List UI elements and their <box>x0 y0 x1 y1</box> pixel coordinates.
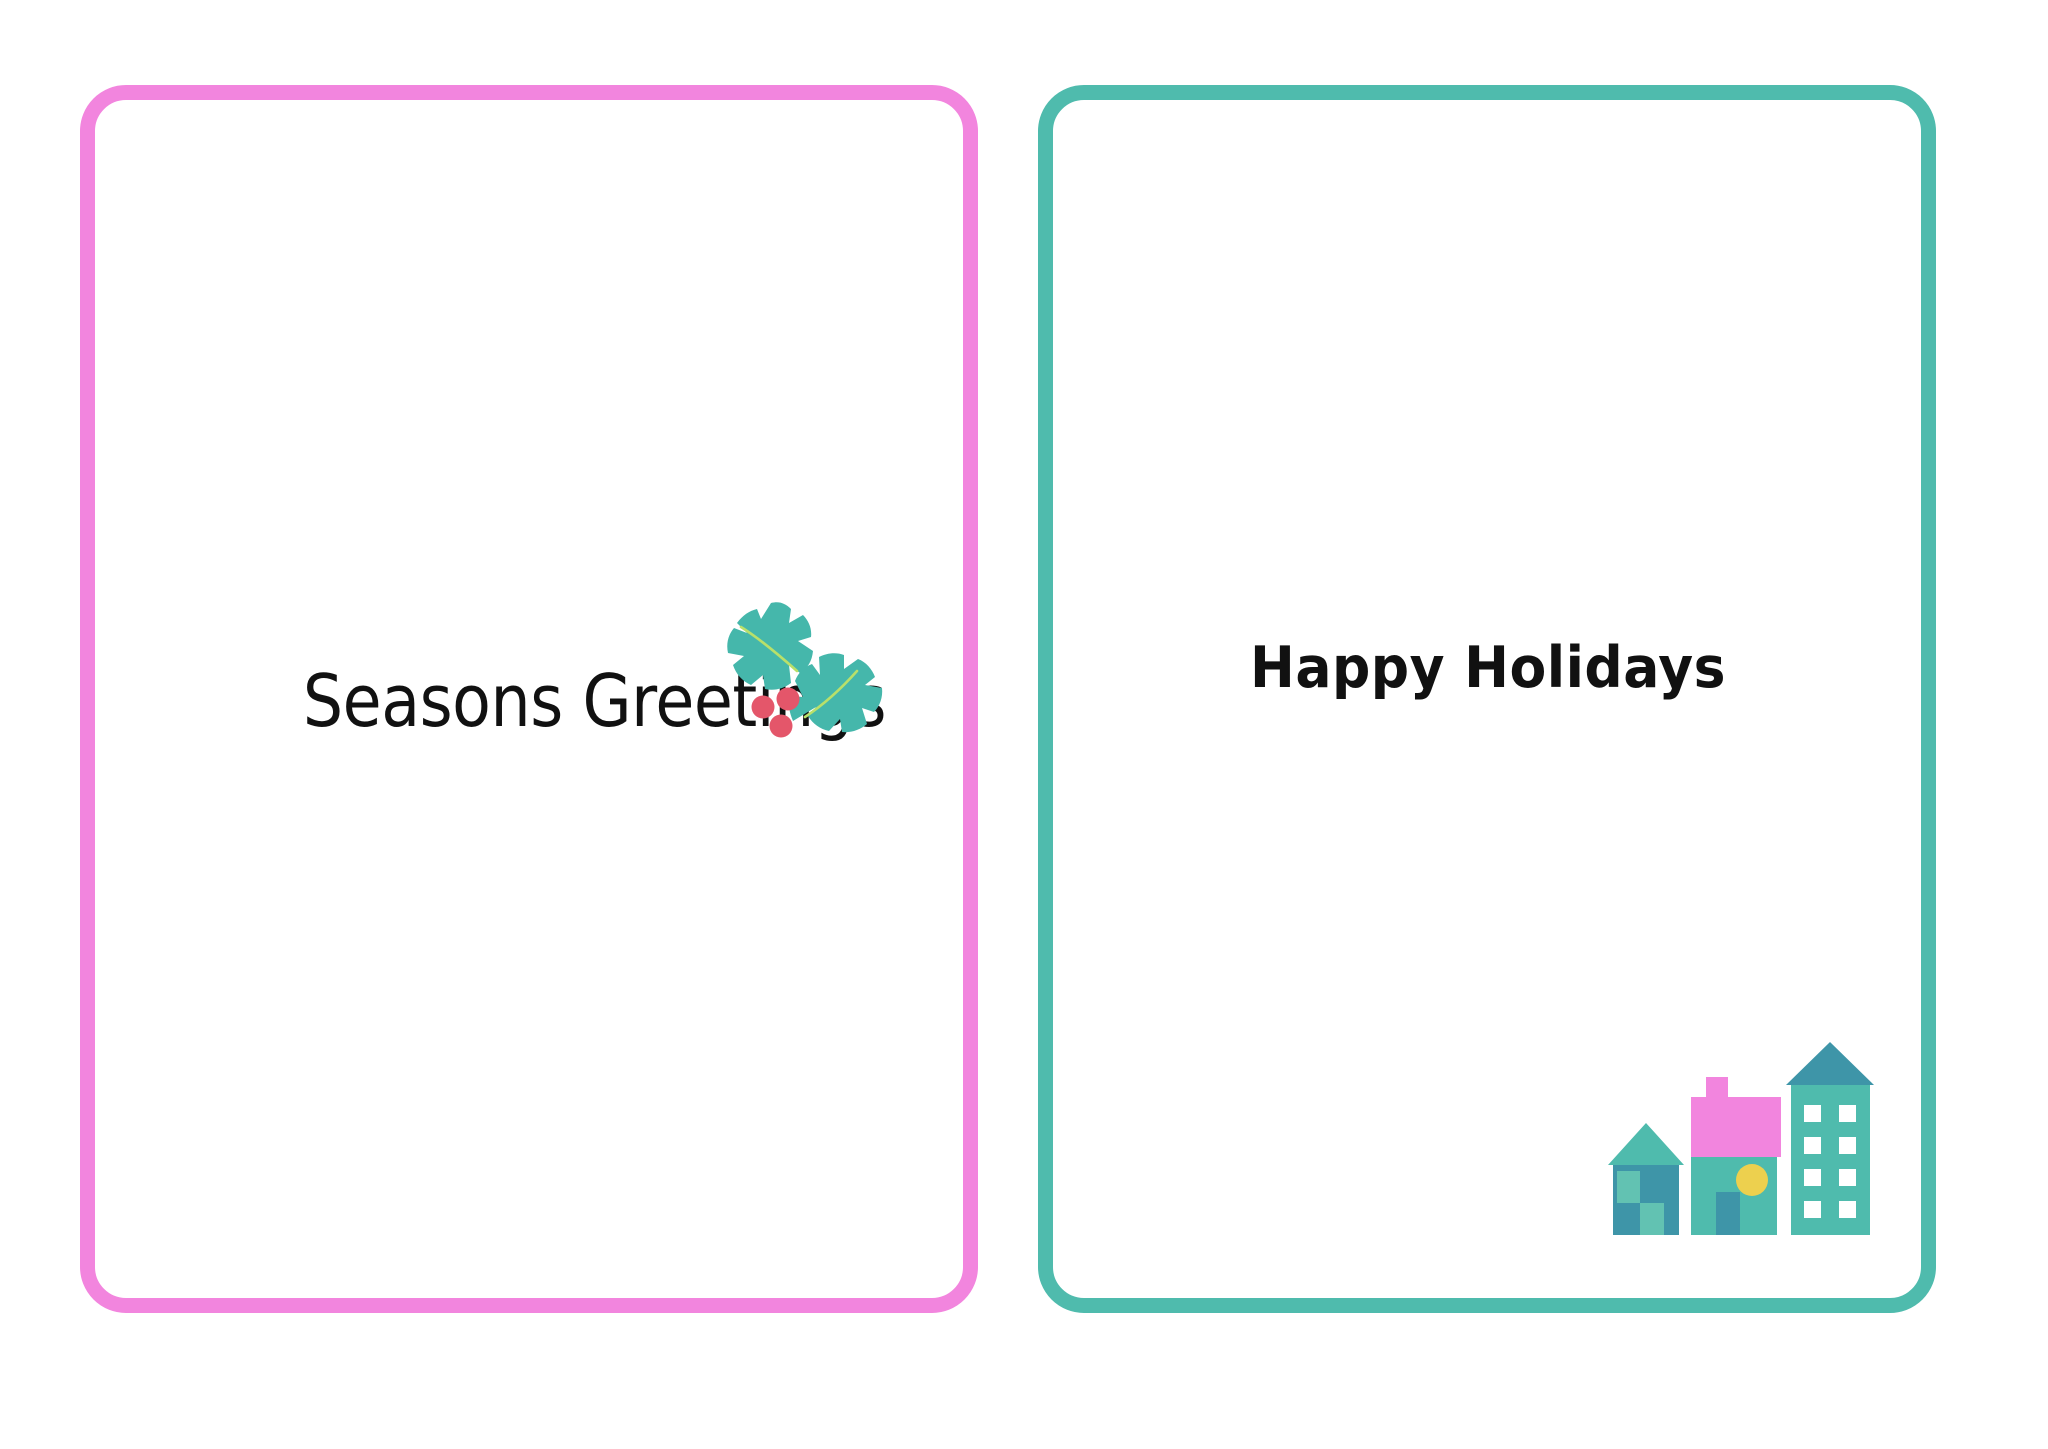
tall-building-window <box>1839 1105 1856 1122</box>
greeting-card-happy-holidays[interactable]: Happy Holidays <box>1038 85 1936 1313</box>
card-greeting-text: Seasons Greetings <box>303 665 785 737</box>
small-house-window <box>1640 1203 1664 1235</box>
middle-house <box>1691 1077 1781 1235</box>
tall-building-window <box>1839 1169 1856 1186</box>
middle-house-door <box>1716 1192 1740 1235</box>
tall-building-window <box>1804 1169 1821 1186</box>
houses-skyline-icon <box>1608 1035 1908 1285</box>
middle-house-round-window <box>1736 1164 1768 1196</box>
card-greeting-text: Happy Holidays <box>1154 640 1821 697</box>
tall-building-window <box>1839 1137 1856 1154</box>
holly-berry <box>770 715 793 738</box>
tall-building-roof <box>1786 1042 1874 1085</box>
tall-building-window <box>1804 1137 1821 1154</box>
holly-berry <box>752 696 775 719</box>
holly-berry <box>777 688 800 711</box>
small-house-roof <box>1608 1123 1684 1165</box>
tall-building-window <box>1839 1201 1856 1218</box>
small-house-window <box>1617 1171 1640 1203</box>
tall-building-body <box>1791 1085 1870 1235</box>
middle-house-roof <box>1691 1097 1781 1157</box>
greeting-card-seasons-greetings[interactable]: Seasons Greetings <box>80 85 978 1313</box>
tall-building-window <box>1804 1105 1821 1122</box>
holly-sprig-icon <box>715 595 905 745</box>
small-house <box>1608 1123 1684 1235</box>
tall-building <box>1786 1042 1874 1235</box>
tall-building-window <box>1804 1201 1821 1218</box>
page-canvas: Seasons Greetings <box>0 0 2048 1449</box>
